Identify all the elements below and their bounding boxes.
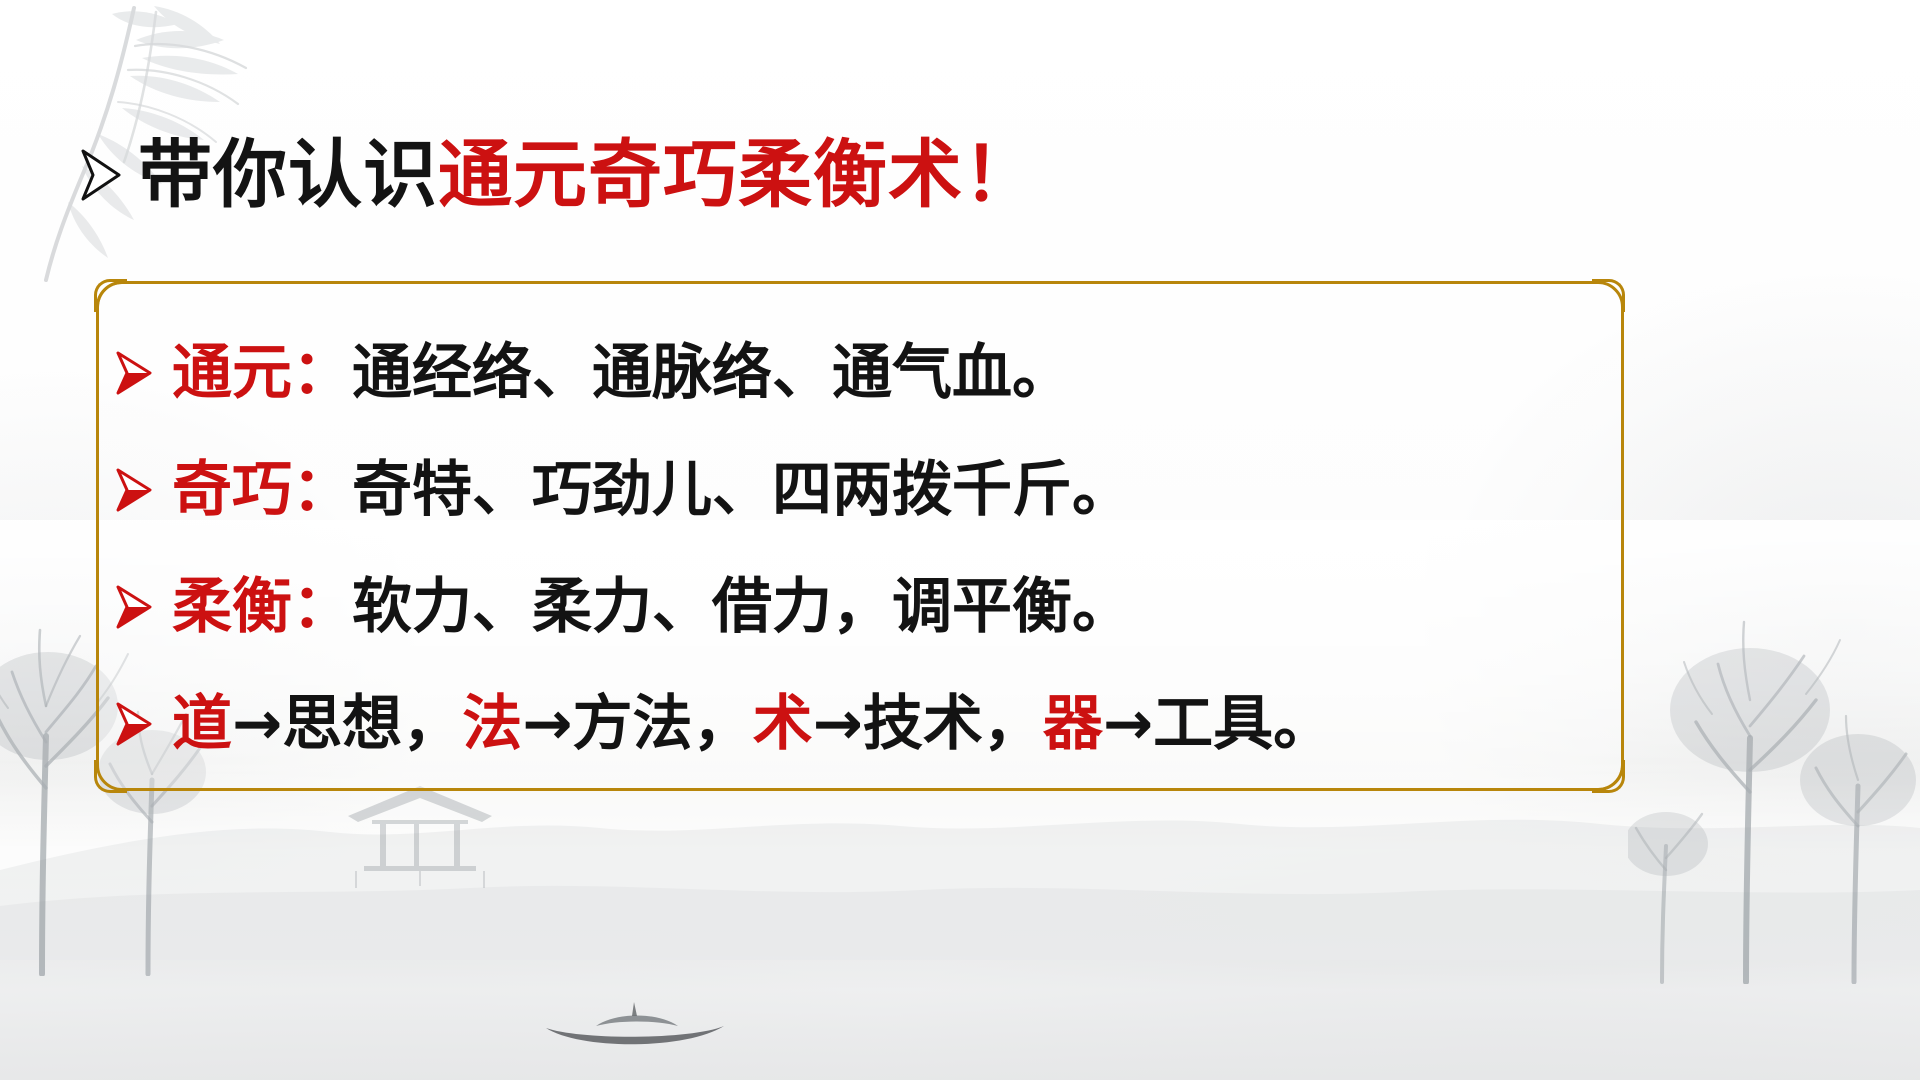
red-arrow-bullet-icon [114,701,154,747]
list-item-segment-6: 器 [1043,689,1103,759]
list-item-text: 柔衡：软力、柔力、借力，调平衡。 [172,577,1132,637]
red-arrow-bullet-icon [114,350,154,396]
list-item-text-segments: 道→思想，法→方法，术→技术，器→工具。 [172,694,1333,754]
list-item-label: 通元： [172,338,352,408]
list-item-segment-5: →技术， [813,689,1043,759]
bare-tree-icon [1628,524,1920,984]
page-title-red: 通元奇巧柔衡术！ [438,138,1038,212]
red-arrow-bullet-icon [114,467,154,513]
list-item-segment-2: 法 [462,689,522,759]
list-item-segment-4: 术 [753,689,813,759]
list-item-text: 奇巧：奇特、巧劲儿、四两拨千斤。 [172,460,1132,520]
list-item: 道→思想，法→方法，术→技术，器→工具。 [96,694,1624,754]
list-item-segment-0: 道 [172,689,232,759]
list-item-segment-3: →方法， [522,689,752,759]
list-item: 奇巧：奇特、巧劲儿、四两拨千斤。 [96,460,1624,520]
list-item: 通元：通经络、通脉络、通气血。 [96,343,1624,403]
list-item: 柔衡：软力、柔力、借力，调平衡。 [96,577,1624,637]
list-item-segment-1: →思想， [232,689,462,759]
page-title-black: 带你认识 [138,138,438,212]
river-water [0,930,1920,1080]
list-item-body: 奇特、巧劲儿、四两拨千斤。 [352,455,1132,525]
bullet-list: 通元：通经络、通脉络、通气血。 奇巧：奇特、巧劲儿、四两拨千斤。 柔衡：软力、柔… [96,290,1624,782]
red-arrow-bullet-icon [114,584,154,630]
slide-canvas: 带你认识 通元奇巧柔衡术！ 通元：通经络、通脉络、通气血。 [0,0,1920,1080]
list-item-body: 通经络、通脉络、通气血。 [352,338,1072,408]
list-item-text: 通元：通经络、通脉络、通气血。 [172,343,1072,403]
list-item-label: 柔衡： [172,572,352,642]
sampan-boat-icon [540,1002,730,1060]
arrow-bullet-icon [78,147,124,203]
list-item-label: 奇巧： [172,455,352,525]
page-title: 带你认识 通元奇巧柔衡术！ [78,138,1038,212]
list-item-body: 软力、柔力、借力，调平衡。 [352,572,1132,642]
list-item-segment-7: →工具。 [1103,689,1333,759]
